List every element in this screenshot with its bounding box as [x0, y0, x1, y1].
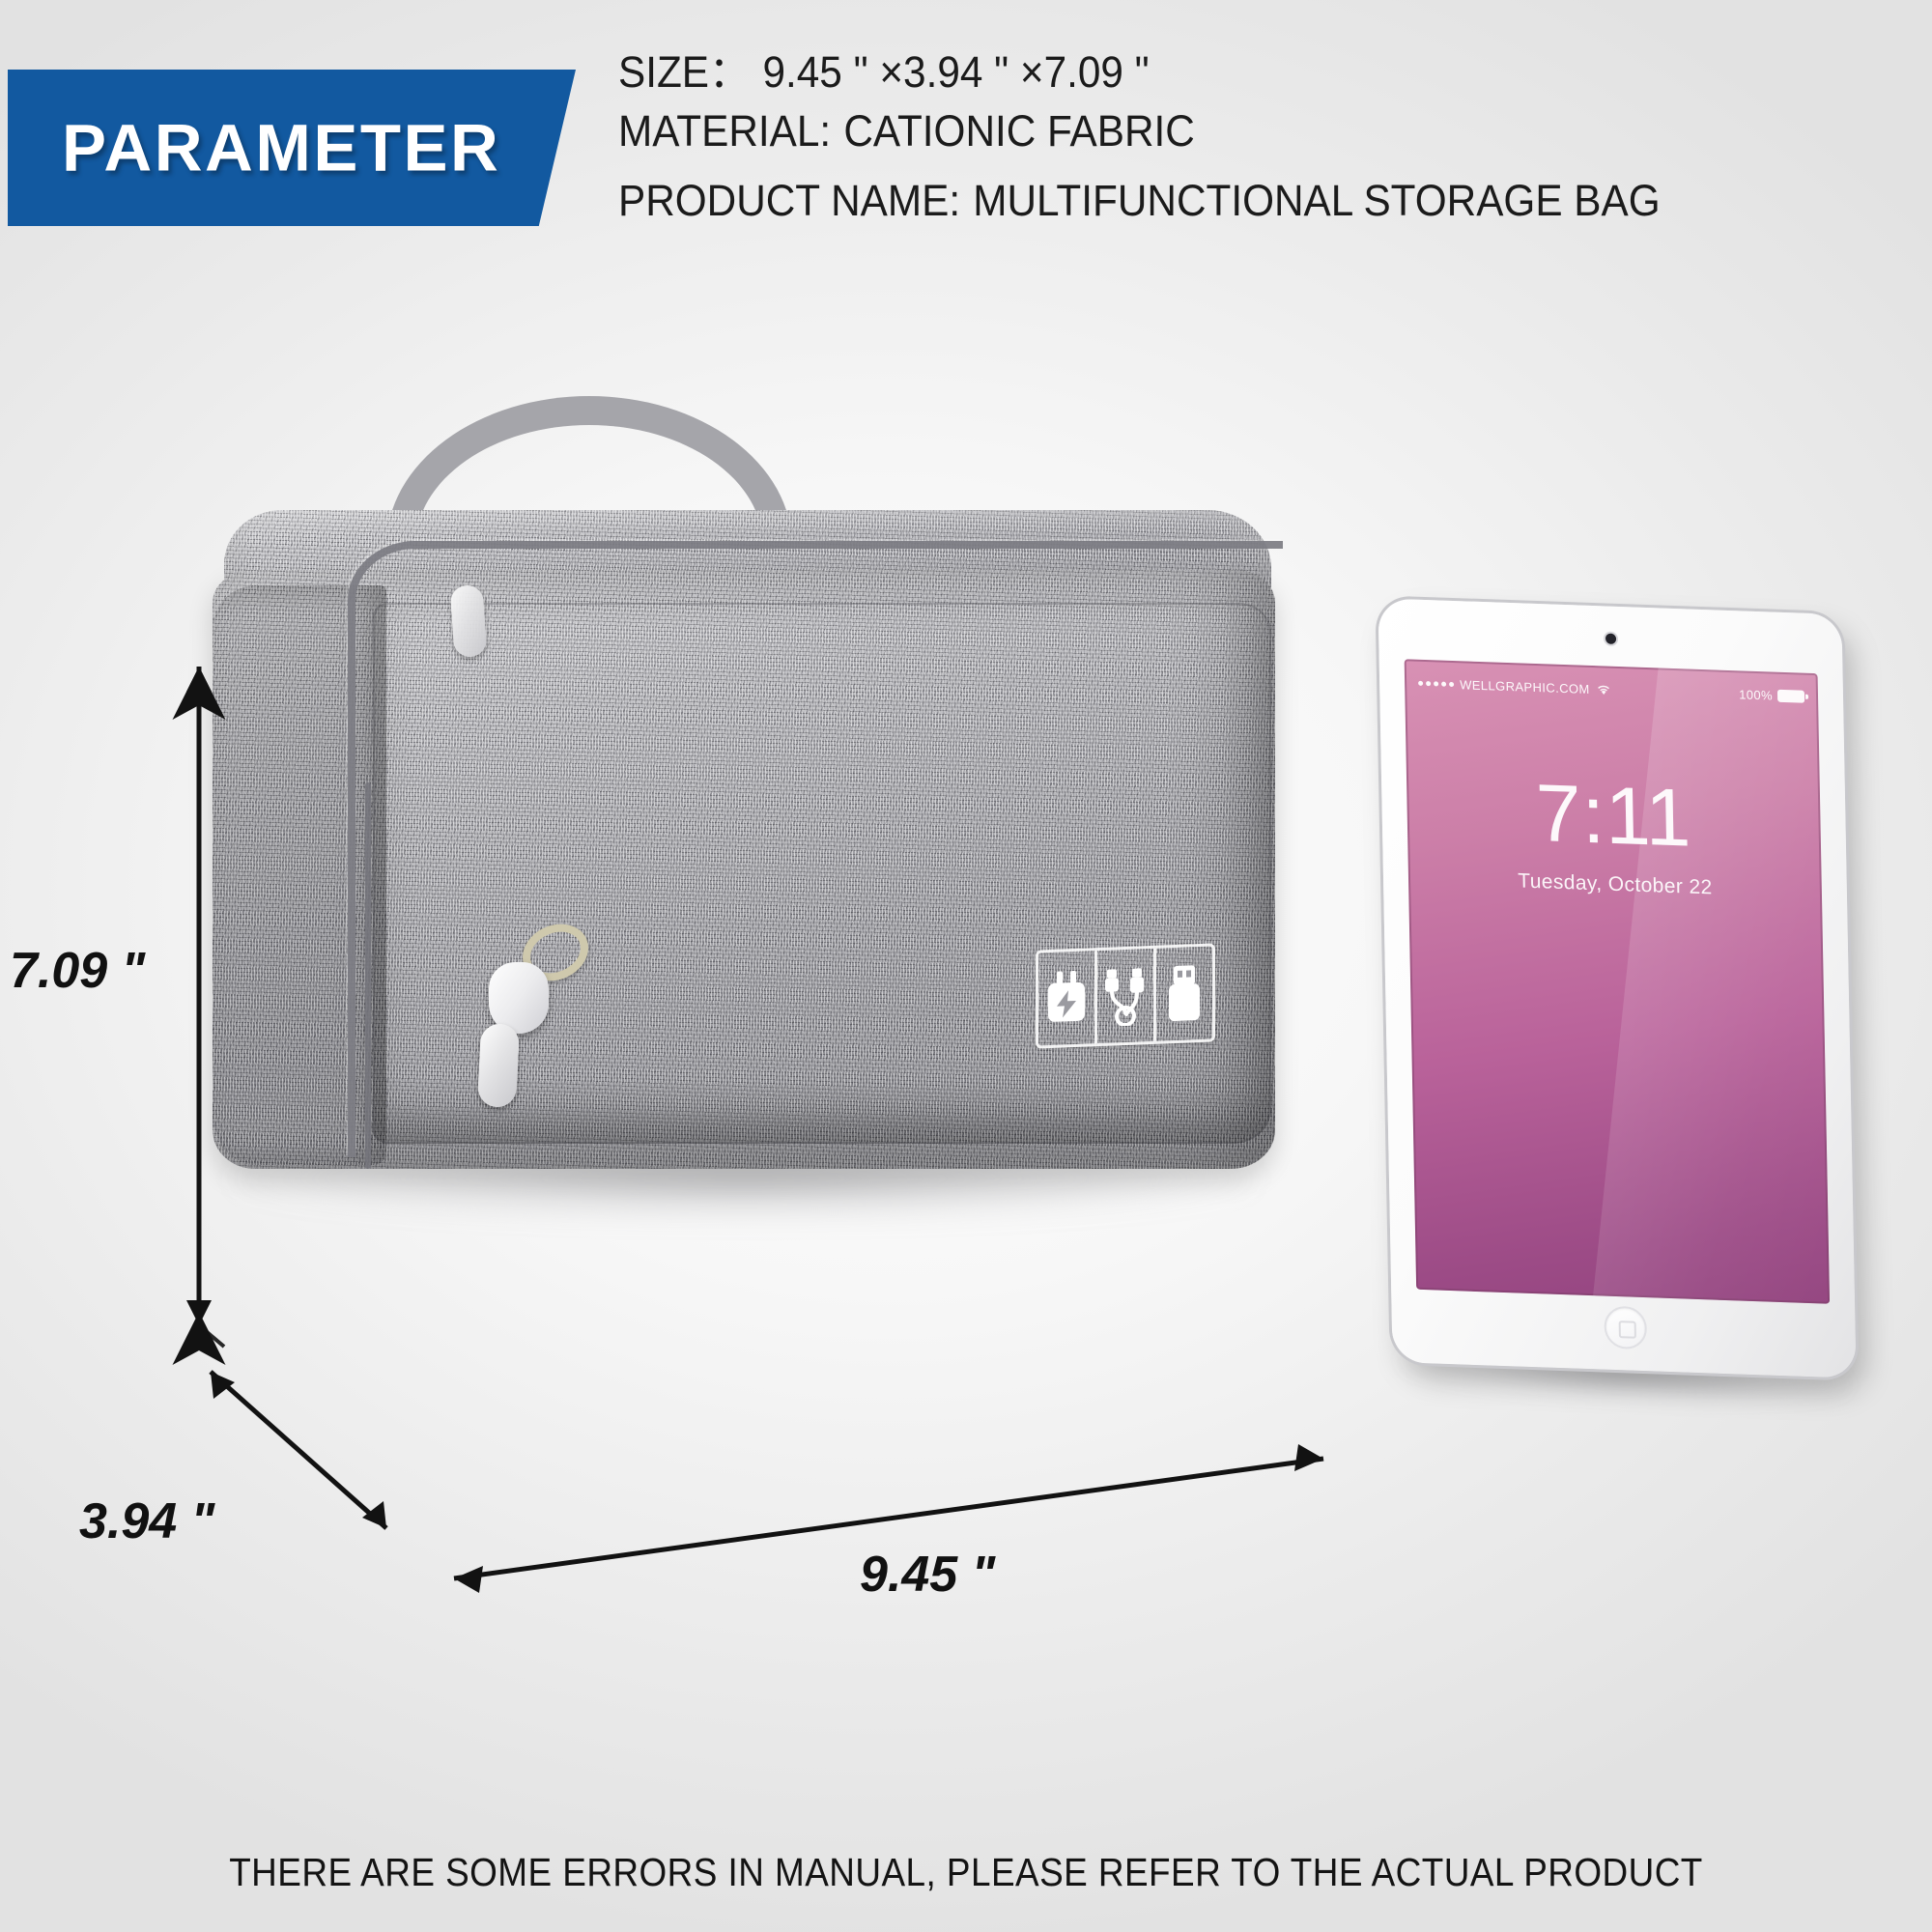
storage-bag-image: [203, 396, 1314, 1246]
spec-value-product-name: MULTIFUNCTIONAL STORAGE BAG: [973, 176, 1660, 226]
tablet-lockscreen: WELLGRAPHIC.COM 100% 7:11 Tuesday, Octob…: [1405, 659, 1830, 1304]
spec-list: SIZE： 9.45 " ×3.94 " ×7.09 " MATERIAL: C…: [618, 37, 1913, 245]
corner-leader-1: [199, 1325, 224, 1347]
depth-label: 3.94 ": [79, 1492, 214, 1550]
battery-group: 100%: [1739, 687, 1804, 703]
depth-dimension-line: [211, 1372, 386, 1528]
wifi-icon: [1596, 683, 1611, 696]
width-arrow-left: [454, 1566, 483, 1593]
carrier-label: WELLGRAPHIC.COM: [1460, 677, 1590, 696]
height-label: 7.09 ": [10, 942, 145, 1000]
spec-value-material: CATIONIC FABRIC: [843, 106, 1195, 156]
screen-glare: [1589, 659, 1830, 1304]
parameter-banner: PARAMETER: [8, 70, 576, 226]
banner-title: PARAMETER: [62, 110, 500, 186]
width-label: 9.45 ": [860, 1546, 995, 1604]
spec-key-product-name: PRODUCT NAME:: [618, 176, 960, 226]
spec-key-size: SIZE：: [618, 37, 750, 99]
carrier-group: WELLGRAPHIC.COM: [1418, 675, 1611, 696]
disclaimer-text: THERE ARE SOME ERRORS IN MANUAL, PLEASE …: [97, 1850, 1835, 1895]
infographic-canvas: PARAMETER SIZE： 9.45 " ×3.94 " ×7.09 " M…: [0, 0, 1932, 1932]
spec-row-product-name: PRODUCT NAME: MULTIFUNCTIONAL STORAGE BA…: [618, 176, 1835, 245]
usb-drive-icon: [1156, 947, 1212, 1041]
front-camera-icon: [1605, 634, 1616, 644]
spec-row-size: SIZE： 9.45 " ×3.94 " ×7.09 ": [618, 37, 1835, 106]
battery-icon: [1777, 689, 1804, 702]
accessory-icon-badge: [1036, 943, 1215, 1048]
charger-plug-icon: [1038, 951, 1097, 1045]
height-arrow-bottom: [186, 1300, 212, 1325]
spec-row-material: MATERIAL: CATIONIC FABRIC: [618, 106, 1835, 176]
zipper-pull-secondary-icon: [449, 584, 487, 658]
usb-cable-icon: [1097, 949, 1156, 1043]
spec-key-material: MATERIAL:: [618, 106, 831, 156]
lockscreen-time: 7:11: [1406, 767, 1822, 863]
battery-percent-label: 100%: [1739, 687, 1773, 702]
spec-value-size: 9.45 " ×3.94 " ×7.09 ": [762, 47, 1149, 98]
signal-strength-icon: [1418, 680, 1454, 686]
depth-arrow-end: [362, 1501, 386, 1528]
tablet-device: WELLGRAPHIC.COM 100% 7:11 Tuesday, Octob…: [1378, 598, 1856, 1378]
depth-arrow-start: [211, 1372, 235, 1399]
width-arrow-right: [1294, 1444, 1323, 1471]
zipper-pull-icon: [477, 1023, 520, 1108]
zipper-track-lower: [365, 782, 371, 1169]
zipper-slider-icon: [489, 962, 549, 1034]
